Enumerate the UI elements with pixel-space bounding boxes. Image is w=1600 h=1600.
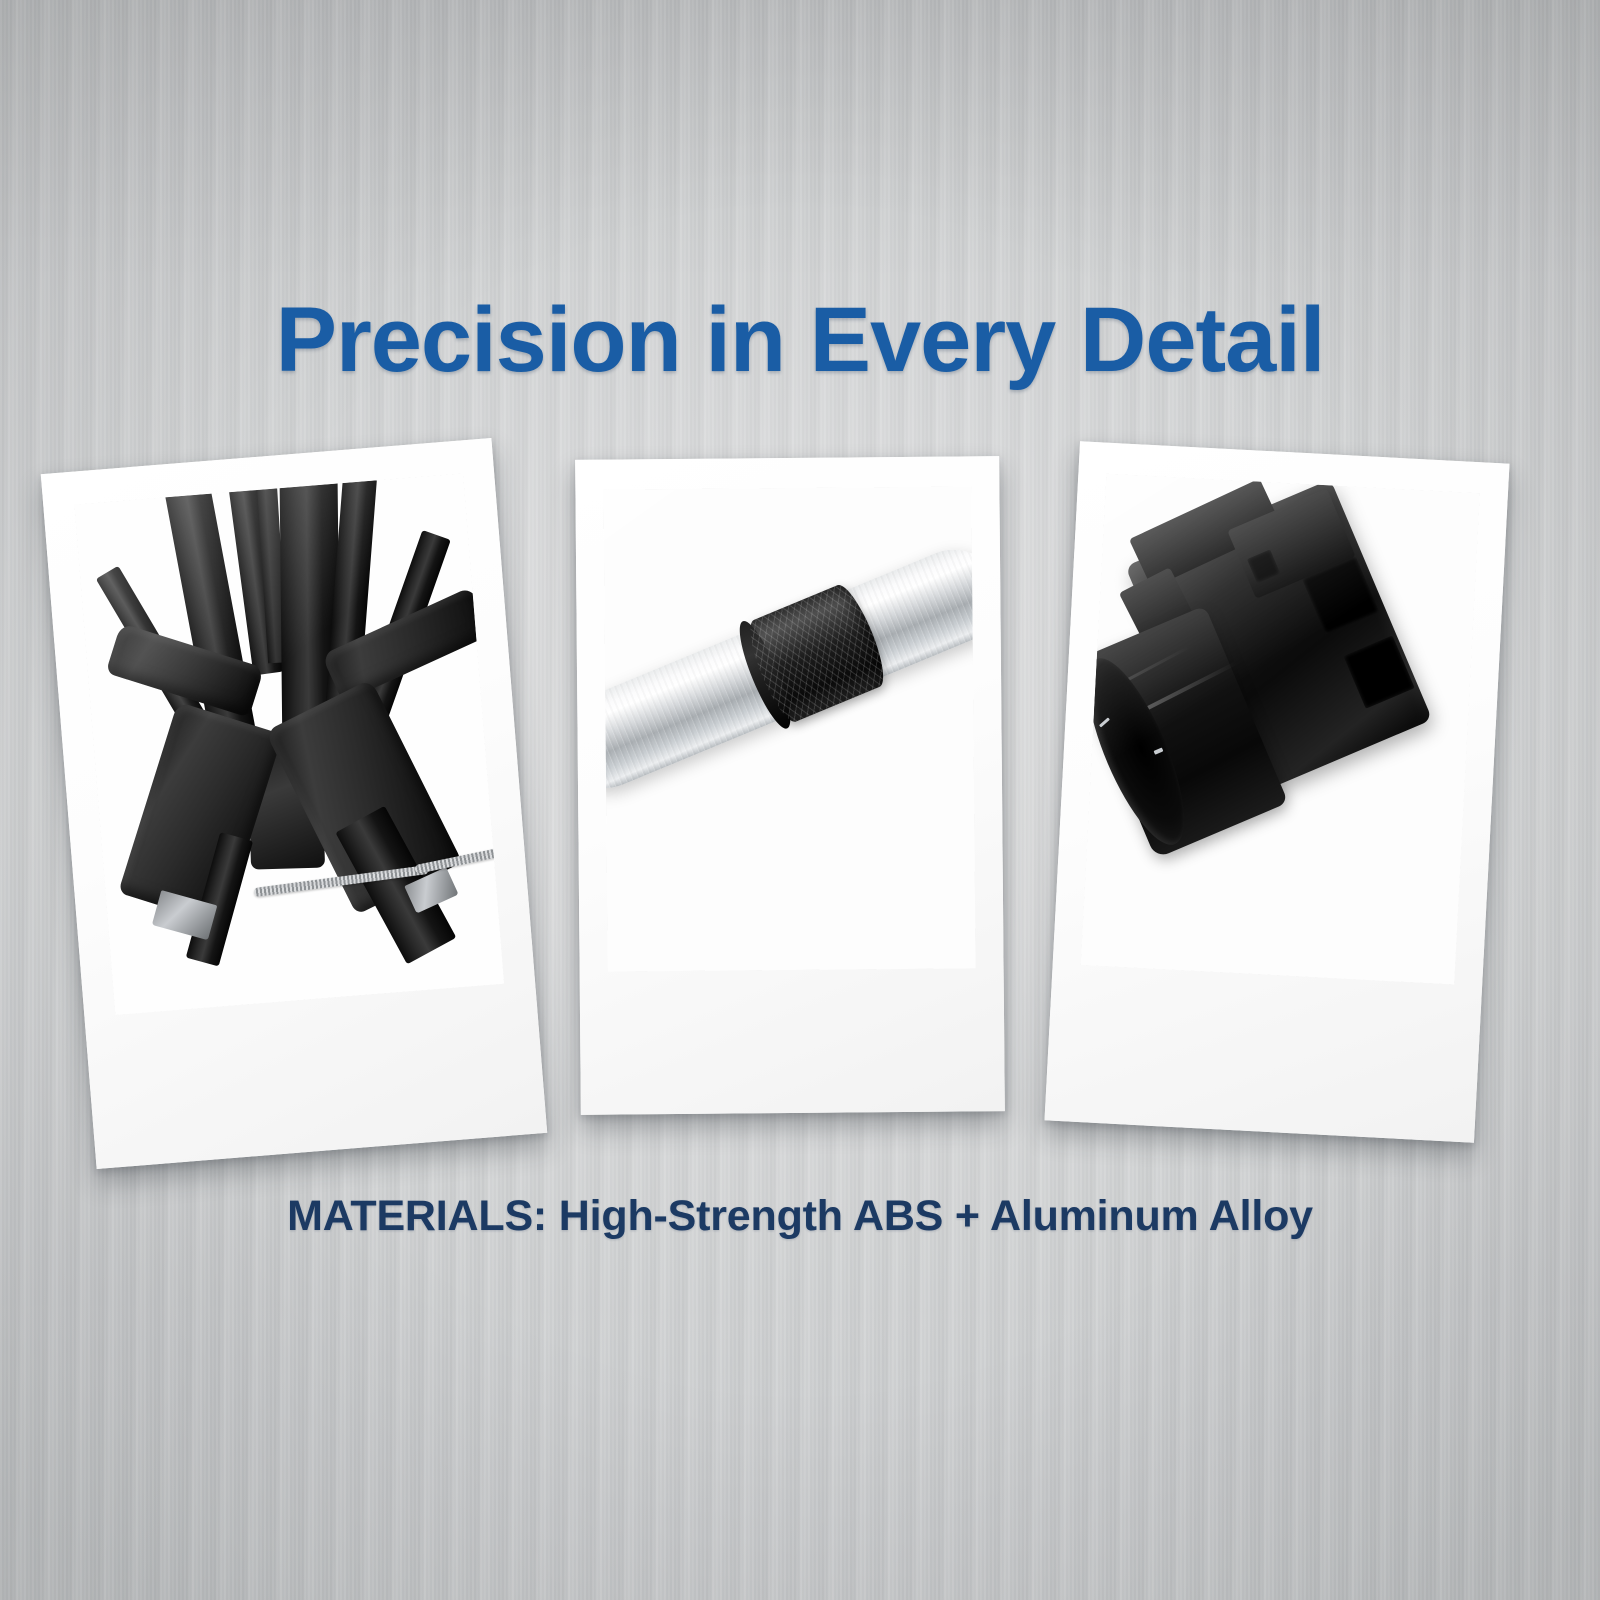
photo-frame-3 bbox=[1081, 474, 1480, 985]
abs-connector bbox=[1081, 474, 1480, 899]
photo-card-knurled-collar bbox=[575, 456, 1005, 1115]
photo-card-tripod-legs bbox=[41, 438, 547, 1169]
photo-image-tripod-legs bbox=[74, 473, 504, 1015]
page-title: Precision in Every Detail bbox=[0, 288, 1600, 393]
photo-frame-1 bbox=[74, 473, 504, 1015]
photo-card-abs-connector bbox=[1045, 441, 1510, 1143]
poster-canvas: Precision in Every Detail bbox=[0, 0, 1600, 1600]
photo-image-knurled-collar bbox=[603, 486, 975, 971]
aluminum-tube bbox=[603, 535, 975, 802]
photo-image-abs-connector bbox=[1081, 474, 1480, 985]
materials-caption: MATERIALS: High-Strength ABS + Aluminum … bbox=[0, 1192, 1600, 1241]
photo-frame-2 bbox=[603, 486, 975, 971]
